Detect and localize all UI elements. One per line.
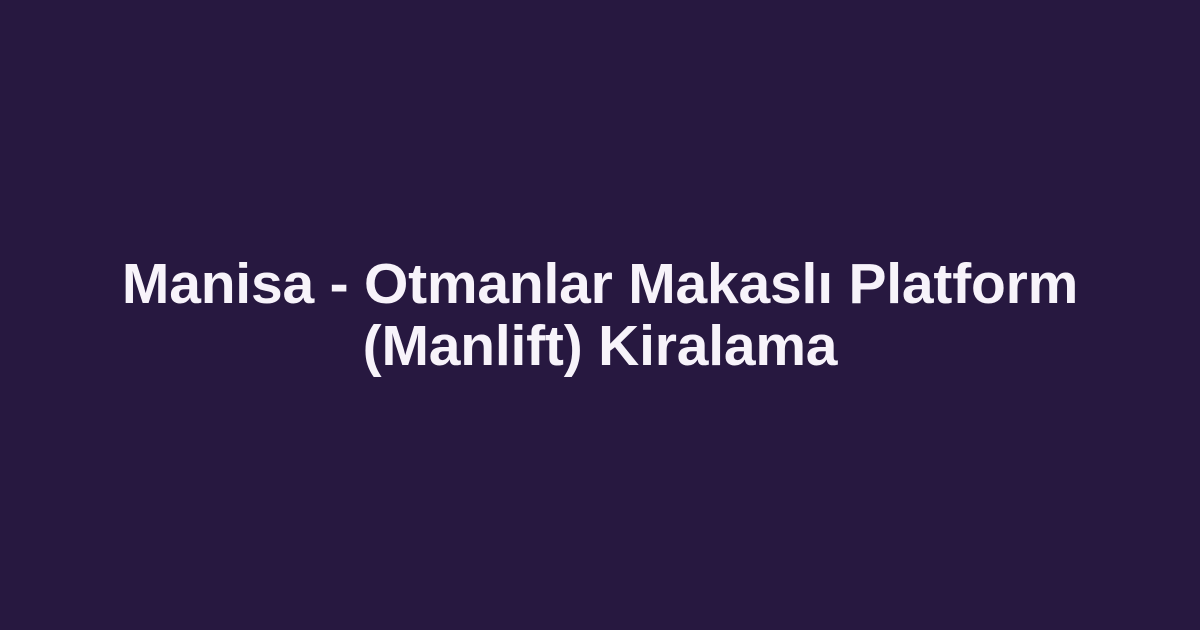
social-share-card: Manisa - Otmanlar Makaslı Platform (Manl… bbox=[0, 0, 1200, 630]
card-content-wrapper: Manisa - Otmanlar Makaslı Platform (Manl… bbox=[100, 253, 1100, 377]
page-title: Manisa - Otmanlar Makaslı Platform (Manl… bbox=[100, 253, 1100, 377]
